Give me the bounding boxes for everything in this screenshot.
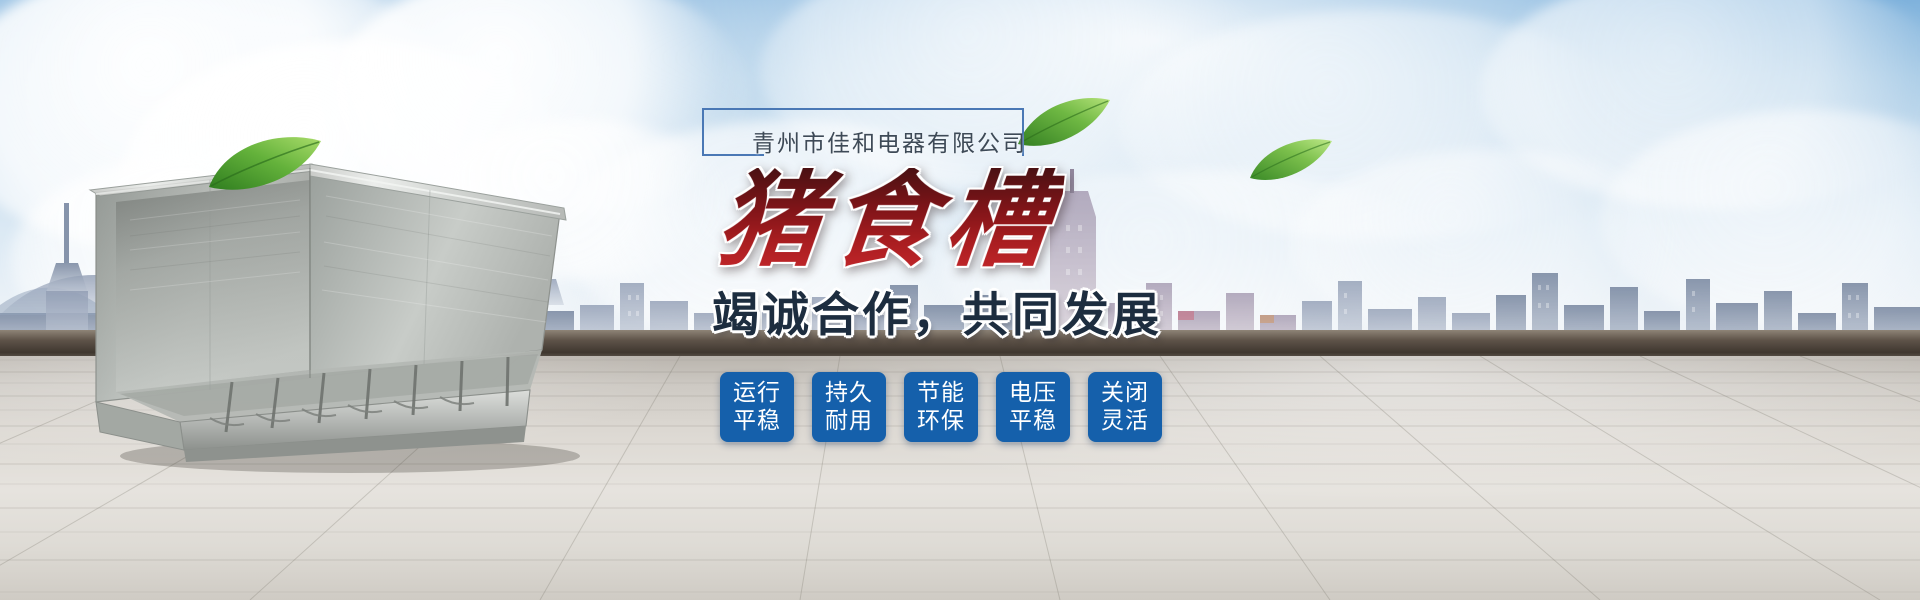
leaf-icon (205, 135, 325, 199)
feature-badge[interactable]: 运行 平稳 (720, 372, 794, 442)
feature-badge[interactable]: 节能 环保 (904, 372, 978, 442)
badge-line-1: 电压 (1009, 379, 1057, 407)
badge-line-2: 灵活 (1101, 407, 1149, 435)
badge-line-1: 运行 (733, 379, 781, 407)
product-image-pig-feeder-trough (60, 150, 620, 480)
badge-line-1: 关闭 (1101, 379, 1149, 407)
feature-badge-list: 运行 平稳 持久 耐用 节能 环保 电压 平稳 关闭 灵活 (720, 372, 1162, 442)
feature-badge[interactable]: 电压 平稳 (996, 372, 1070, 442)
page-title: 猪食槽 (713, 168, 1066, 272)
badge-line-2: 耐用 (825, 407, 873, 435)
banner-stage: 青州市佳和电器有限公司 猪食槽 竭诚合作，共同发展 运行 平稳 持久 耐用 节能… (0, 0, 1920, 600)
feature-badge[interactable]: 持久 耐用 (812, 372, 886, 442)
badge-line-1: 持久 (825, 379, 873, 407)
leaf-icon (1016, 96, 1112, 156)
badge-line-2: 平稳 (733, 407, 781, 435)
company-name: 青州市佳和电器有限公司 (752, 124, 1027, 158)
feature-badge[interactable]: 关闭 灵活 (1088, 372, 1162, 442)
badge-line-2: 平稳 (1009, 407, 1057, 435)
badge-line-2: 环保 (917, 407, 965, 435)
leaf-icon (1248, 138, 1334, 188)
slogan: 竭诚合作，共同发展 (712, 292, 1162, 339)
badge-line-1: 节能 (917, 379, 965, 407)
